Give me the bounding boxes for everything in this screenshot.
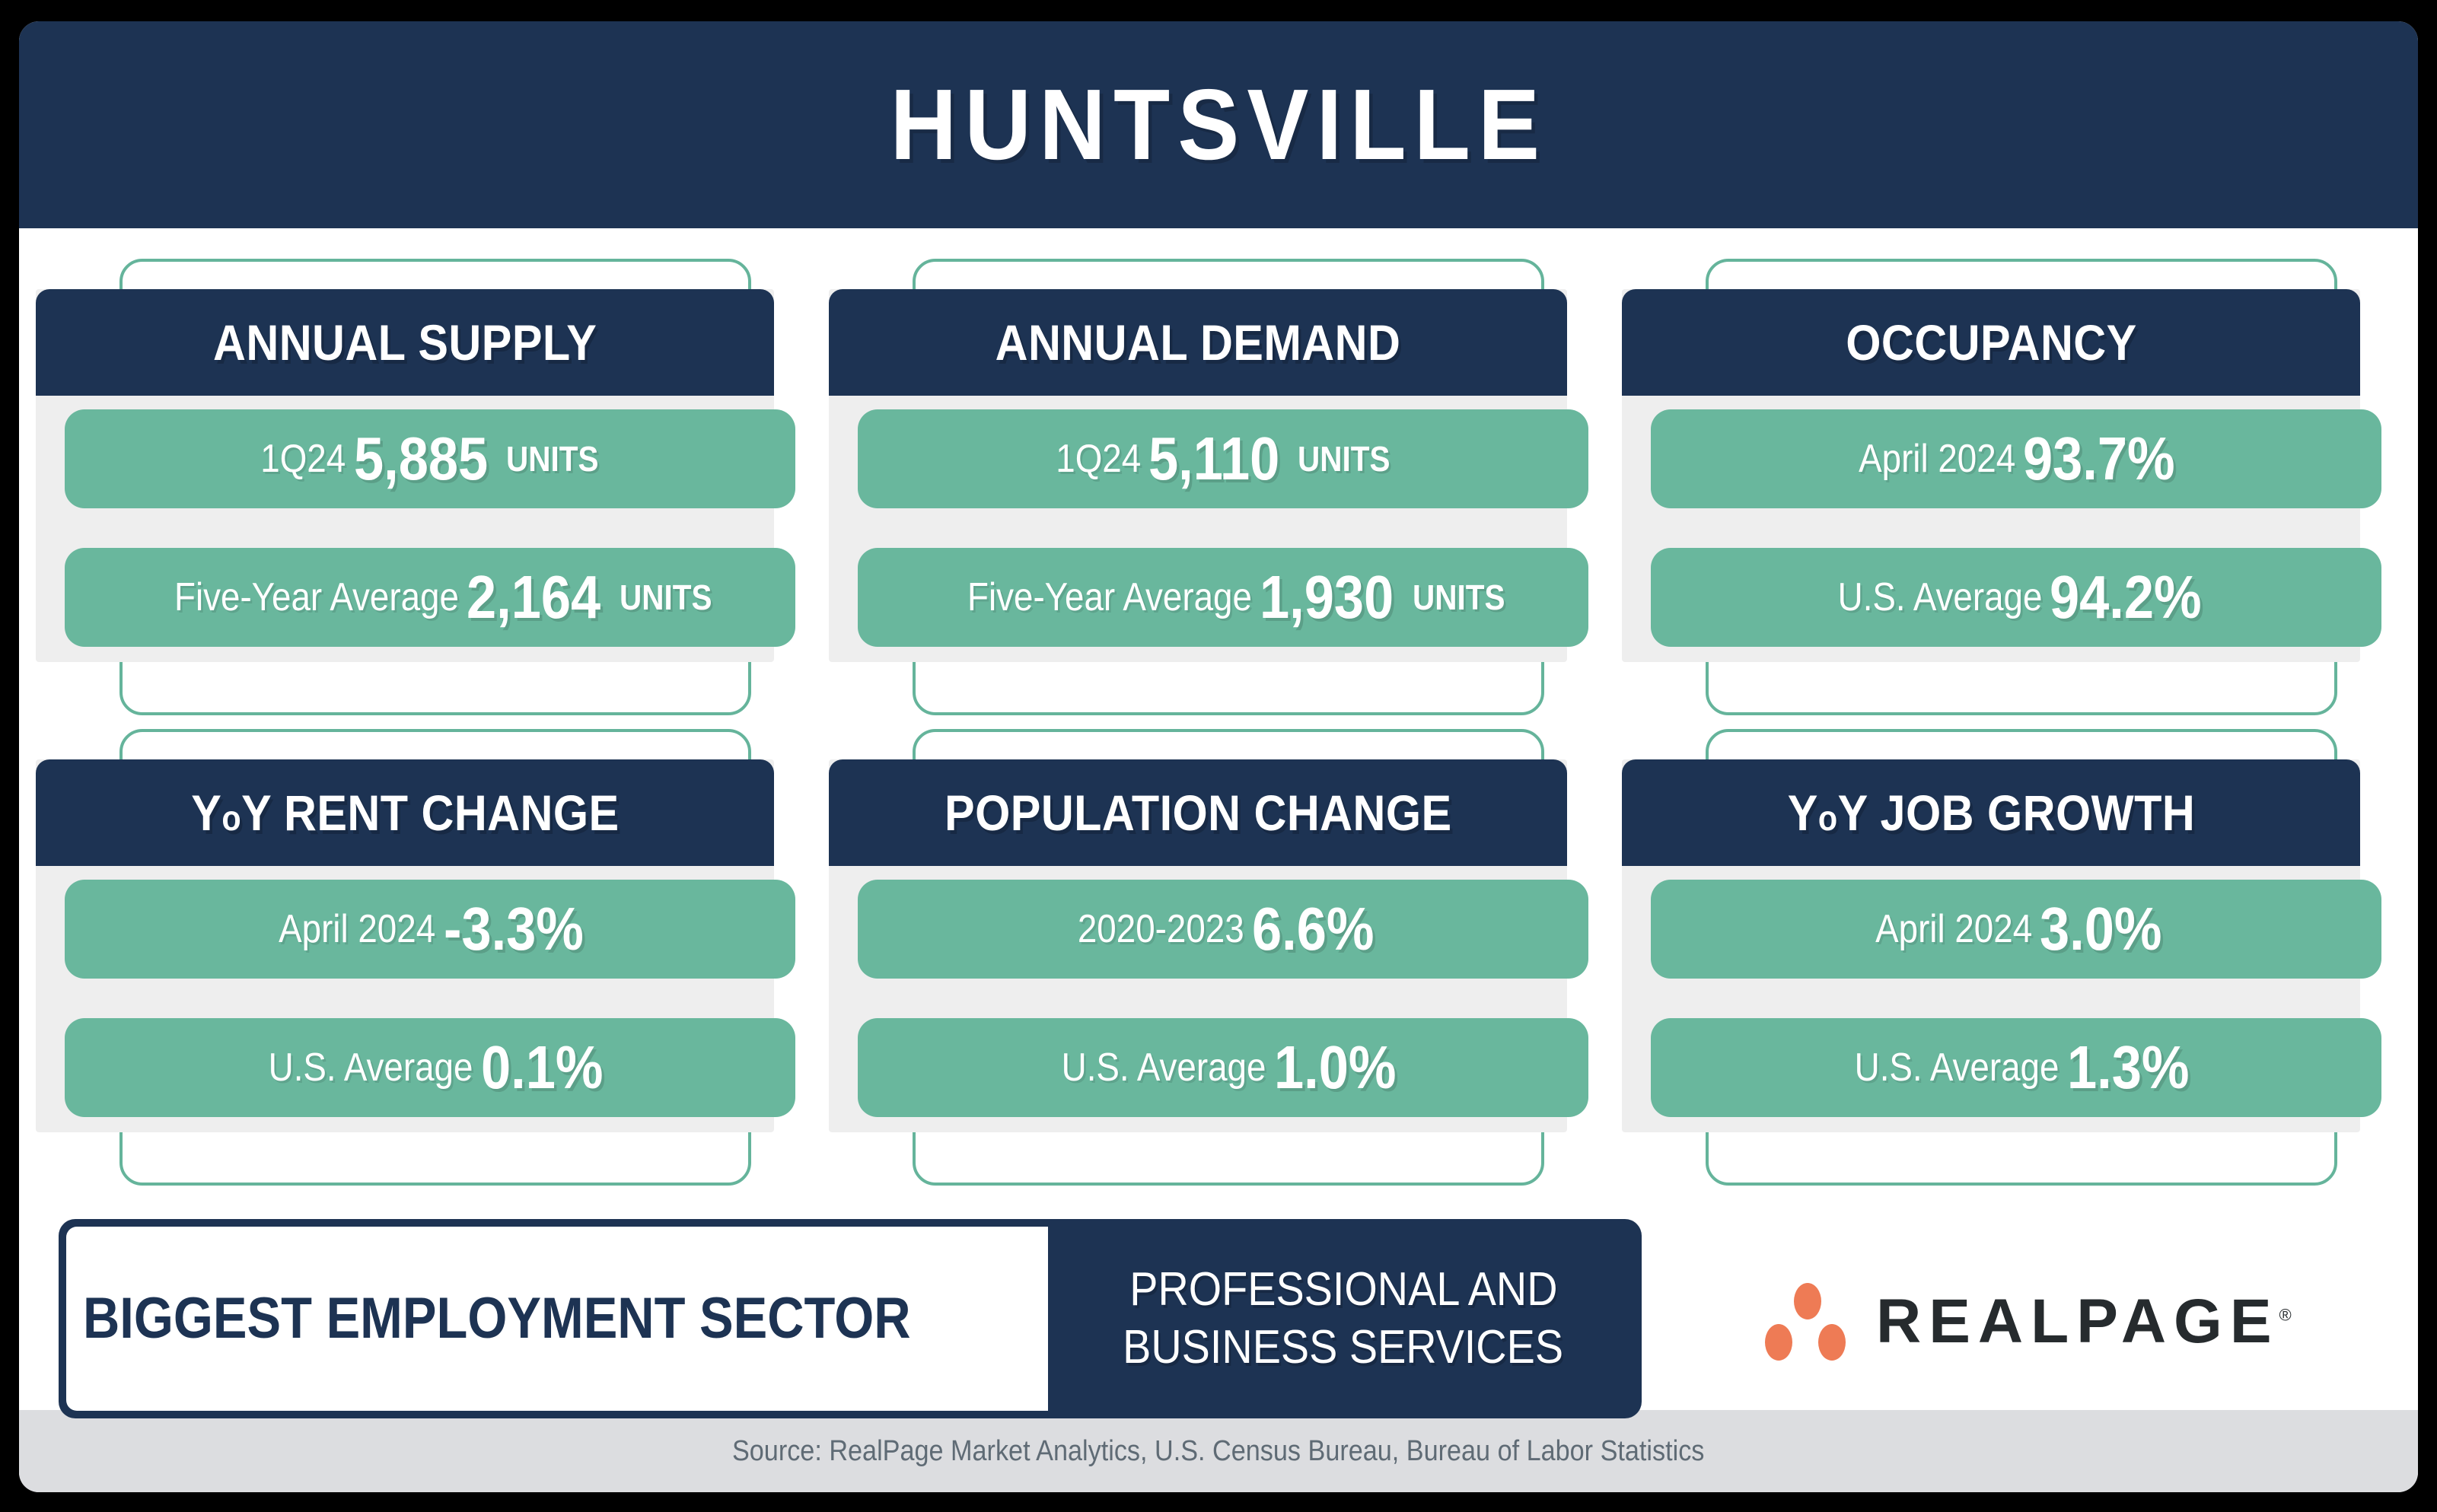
metric-unit: UNITS: [1413, 580, 1505, 615]
employment-sector-label-box: BIGGEST EMPLOYMENT SECTOR: [66, 1227, 1048, 1411]
card-title: OCCUPANCY: [1846, 317, 2136, 368]
metric-row: April 2024 3.0%: [1651, 880, 2381, 979]
metric-value: 94.2%: [2050, 567, 2202, 628]
metric-value: 2,164: [467, 567, 600, 628]
card-header: OCCUPANCY: [1622, 289, 2360, 396]
metric-value: 1,930: [1260, 567, 1394, 628]
infographic-poster: HUNTSVILLE ANNUAL SUPPLY 1Q24 5,885 UNIT…: [19, 21, 2418, 1492]
footer-bar: Source: RealPage Market Analytics, U.S. …: [19, 1410, 2418, 1492]
card-header: POPULATION CHANGE: [829, 759, 1567, 866]
metric-value: 0.1%: [481, 1037, 603, 1098]
metric-card-grid: ANNUAL SUPPLY 1Q24 5,885 UNITS Five-Year…: [19, 228, 2418, 1211]
card-title: POPULATION CHANGE: [945, 788, 1452, 838]
metric-row: U.S. Average 94.2%: [1651, 548, 2381, 647]
metric-card-yoy-job-growth: YoY JOB GROWTH April 2024 3.0% U.S. Aver…: [1622, 729, 2391, 1186]
logo-dot-bottom-right: [1818, 1324, 1846, 1361]
card-header: YoY RENT CHANGE: [36, 759, 774, 866]
metric-row: Five-Year Average 1,930 UNITS: [858, 548, 1588, 647]
metric-row: 1Q24 5,885 UNITS: [65, 409, 795, 508]
metric-row: 1Q24 5,110 UNITS: [858, 409, 1588, 508]
employment-sector-value-line1: PROFESSIONAL AND: [1129, 1266, 1557, 1313]
metric-unit: UNITS: [620, 580, 712, 615]
metric-unit: UNITS: [506, 441, 598, 476]
metric-value: 1.3%: [2067, 1037, 2189, 1098]
card-header: ANNUAL DEMAND: [829, 289, 1567, 396]
employment-sector-value: PROFESSIONAL AND BUSINESS SERVICES: [1054, 1227, 1633, 1411]
metric-label: U.S. Average: [1837, 578, 2042, 617]
metric-card-annual-demand: ANNUAL DEMAND 1Q24 5,110 UNITS Five-Year…: [829, 259, 1598, 715]
metric-label: U.S. Average: [1855, 1048, 2060, 1087]
metric-value: -3.3%: [444, 899, 584, 960]
metric-value: 93.7%: [2023, 428, 2175, 489]
registered-trademark-icon: ®: [2279, 1306, 2292, 1325]
metric-label: April 2024: [1859, 439, 2015, 479]
metric-label: U.S. Average: [1062, 1048, 1266, 1087]
metric-value: 5,110: [1148, 428, 1279, 489]
metric-row: April 2024 -3.3%: [65, 880, 795, 979]
metric-card-yoy-rent-change: YoY RENT CHANGE April 2024 -3.3% U.S. Av…: [36, 729, 804, 1186]
metric-card-annual-supply: ANNUAL SUPPLY 1Q24 5,885 UNITS Five-Year…: [36, 259, 804, 715]
metric-label: 1Q24: [261, 439, 346, 479]
metric-label: April 2024: [279, 909, 436, 949]
metric-card-occupancy: OCCUPANCY April 2024 93.7% U.S. Average …: [1622, 259, 2391, 715]
title-bar: HUNTSVILLE: [19, 21, 2418, 228]
three-orange-dots-icon: [1762, 1281, 1853, 1362]
metric-label: 1Q24: [1056, 439, 1141, 479]
metric-value: 3.0%: [2040, 899, 2161, 960]
logo-wordmark-text: REALPAGE: [1876, 1287, 2279, 1356]
metric-row: Five-Year Average 2,164 UNITS: [65, 548, 795, 647]
metric-value: 6.6%: [1252, 899, 1374, 960]
logo-wordmark: REALPAGE®: [1876, 1291, 2292, 1353]
card-header: YoY JOB GROWTH: [1622, 759, 2360, 866]
employment-sector-label: BIGGEST EMPLOYMENT SECTOR: [83, 1290, 911, 1348]
metric-row: U.S. Average 0.1%: [65, 1018, 795, 1117]
metric-label: Five-Year Average: [967, 578, 1252, 617]
metric-row: U.S. Average 1.0%: [858, 1018, 1588, 1117]
card-header: ANNUAL SUPPLY: [36, 289, 774, 396]
page-title: HUNTSVILLE: [890, 75, 1547, 175]
metric-value: 5,885: [354, 428, 488, 489]
bottom-strip: BIGGEST EMPLOYMENT SECTOR PROFESSIONAL A…: [19, 1211, 2418, 1432]
metric-label: April 2024: [1875, 909, 2032, 949]
card-title: ANNUAL SUPPLY: [213, 317, 597, 368]
metric-row: April 2024 93.7%: [1651, 409, 2381, 508]
metric-unit: UNITS: [1298, 441, 1390, 476]
logo-dot-top: [1794, 1283, 1821, 1319]
metric-label: U.S. Average: [269, 1048, 473, 1087]
metric-label: Five-Year Average: [174, 578, 459, 617]
metric-row: U.S. Average 1.3%: [1651, 1018, 2381, 1117]
realpage-logo: REALPAGE®: [1762, 1272, 2295, 1371]
employment-sector-value-line2: BUSINESS SERVICES: [1123, 1324, 1564, 1371]
metric-row: 2020-2023 6.6%: [858, 880, 1588, 979]
card-title: ANNUAL DEMAND: [996, 317, 1401, 368]
source-attribution: Source: RealPage Market Analytics, U.S. …: [732, 1437, 1704, 1466]
logo-dot-bottom-left: [1765, 1324, 1792, 1361]
metric-value: 1.0%: [1274, 1037, 1396, 1098]
card-title: YoY RENT CHANGE: [191, 788, 619, 838]
metric-label: 2020-2023: [1078, 909, 1244, 949]
card-title: YoY JOB GROWTH: [1787, 788, 2194, 838]
metric-card-population-change: POPULATION CHANGE 2020-2023 6.6% U.S. Av…: [829, 729, 1598, 1186]
